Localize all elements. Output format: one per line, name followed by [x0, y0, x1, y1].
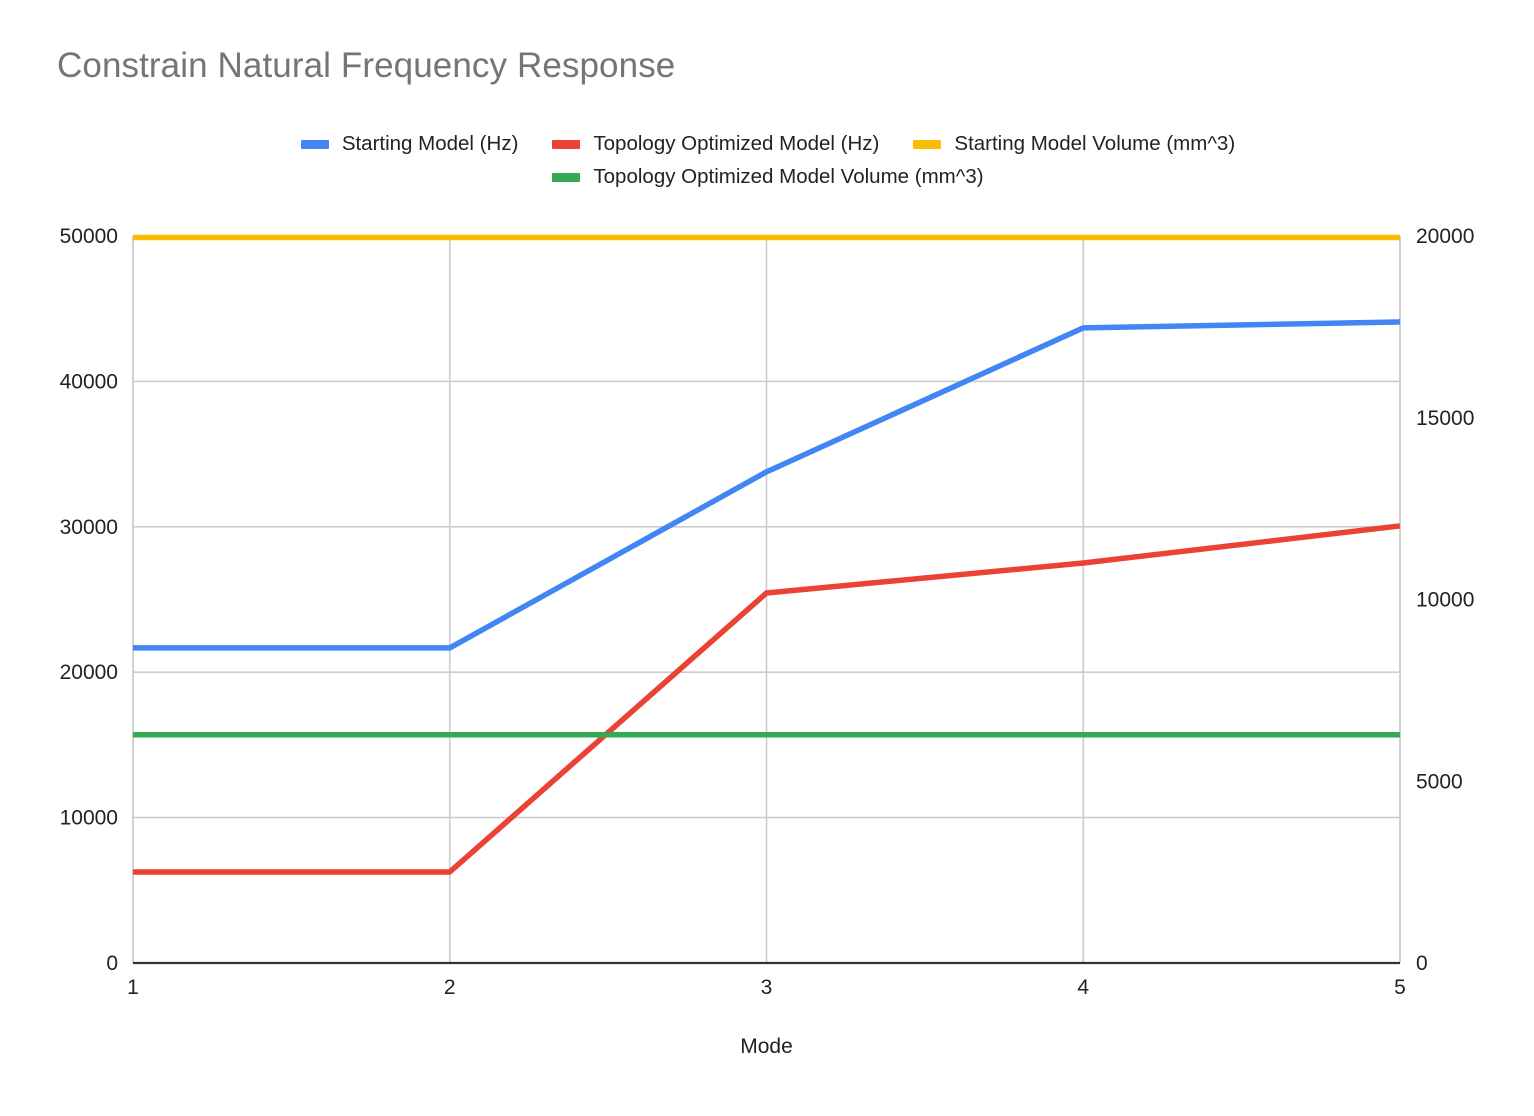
y-axis-left-tick-label: 20000 — [60, 661, 118, 684]
y-axis-right-tick-label: 0 — [1416, 952, 1428, 975]
y-axis-left-tick-label: 40000 — [60, 370, 118, 393]
chart-container: Constrain Natural Frequency Response Sta… — [0, 0, 1534, 1116]
y-axis-right-tick-label: 20000 — [1416, 225, 1474, 248]
x-axis-title-label: Mode — [740, 1035, 793, 1058]
plot-svg: 01000020000300004000050000 0500010000150… — [0, 0, 1534, 1116]
y-axis-right-tick-label: 15000 — [1416, 407, 1474, 430]
x-axis-tick-label: 1 — [127, 976, 139, 999]
y-axis-right-labels: 05000100001500020000 — [1416, 225, 1474, 975]
y-axis-right-tick-label: 10000 — [1416, 589, 1474, 612]
x-axis-tick-label: 4 — [1077, 976, 1089, 999]
y-axis-left-labels: 01000020000300004000050000 — [60, 225, 118, 975]
gridlines — [133, 236, 1400, 963]
x-axis-tick-label: 3 — [761, 976, 773, 999]
x-axis-tick-label: 2 — [444, 976, 456, 999]
y-axis-left-tick-label: 30000 — [60, 516, 118, 539]
x-axis-title: Mode — [740, 1035, 793, 1058]
y-axis-right-tick-label: 5000 — [1416, 770, 1463, 793]
y-axis-left-tick-label: 0 — [106, 952, 118, 975]
plot-area: 01000020000300004000050000 0500010000150… — [0, 0, 1534, 1116]
x-axis-tick-label: 5 — [1394, 976, 1406, 999]
x-axis-labels: 12345 — [127, 976, 1406, 999]
y-axis-left-tick-label: 10000 — [60, 807, 118, 830]
y-axis-left-tick-label: 50000 — [60, 225, 118, 248]
